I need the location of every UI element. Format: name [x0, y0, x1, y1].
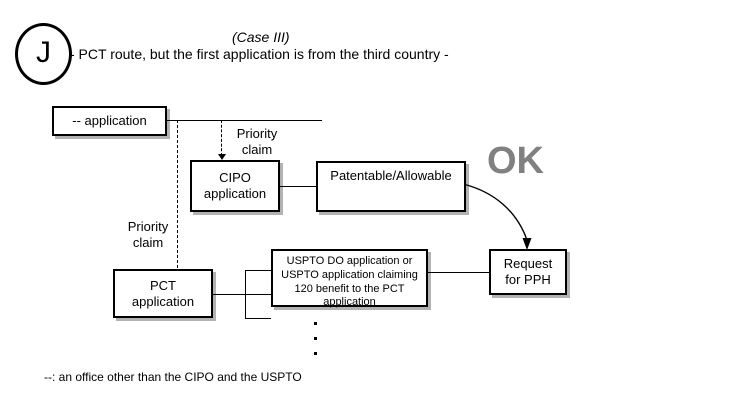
connector-cipo-to-patentable — [280, 186, 316, 187]
case-subtitle: - PCT route, but the first application i… — [70, 46, 449, 62]
connector-patentable-to-request-arrow — [455, 178, 565, 258]
label-priority-claim-pct: Priorityclaim — [117, 219, 179, 251]
node-first-application-label: -- application — [68, 108, 150, 129]
node-first-application[interactable]: -- application — [52, 106, 167, 136]
node-uspto-application[interactable]: USPTO DO application or USPTO applicatio… — [271, 249, 428, 307]
connector-pct-bracket-arm-3 — [245, 318, 271, 319]
connector-priority-claim-pct — [177, 120, 178, 293]
legend-note: --: an office other than the CIPO and th… — [44, 370, 302, 384]
connector-pct-bracket-arm-2 — [245, 294, 271, 295]
node-request-for-pph[interactable]: Requestfor PPH — [489, 249, 567, 295]
node-cipo-application-label: CIPOapplication — [200, 162, 270, 202]
connector-first-application-rail — [167, 120, 322, 121]
diagram-canvas: J (Case III) - PCT route, but the first … — [0, 0, 746, 406]
connector-uspto-to-request — [428, 272, 489, 273]
connector-priority-claim-cipo — [221, 120, 222, 156]
vertical-ellipsis-icon — [314, 322, 317, 367]
node-patentable-allowable-label: Patentable/Allowable — [326, 163, 455, 184]
status-ok: OK — [487, 140, 544, 183]
node-pct-application-label: PCTapplication — [128, 271, 198, 310]
connector-pct-bracket-stem — [213, 294, 245, 295]
connector-pct-bracket-arm-1 — [245, 270, 271, 271]
case-badge-letter: J — [36, 38, 51, 71]
node-pct-application[interactable]: PCTapplication — [113, 269, 213, 318]
case-label: (Case III) — [232, 29, 290, 45]
node-uspto-application-label: USPTO DO application or USPTO applicatio… — [273, 251, 426, 310]
node-request-for-pph-label: Requestfor PPH — [500, 251, 556, 288]
case-badge: J — [15, 23, 72, 85]
node-patentable-allowable[interactable]: Patentable/Allowable — [316, 161, 466, 212]
label-priority-claim-cipo: Priorityclaim — [226, 126, 288, 158]
node-cipo-application[interactable]: CIPOapplication — [190, 160, 280, 212]
